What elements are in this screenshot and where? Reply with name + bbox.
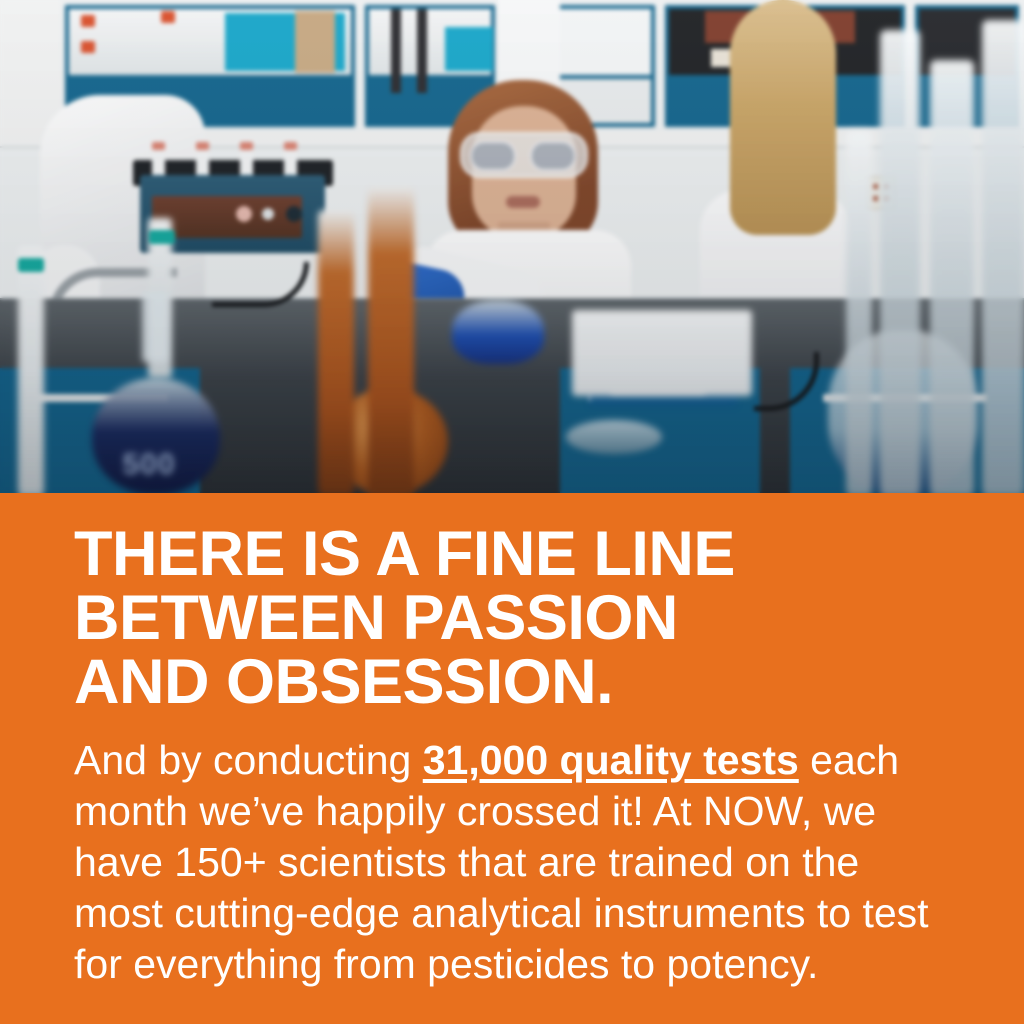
hair bbox=[730, 0, 836, 235]
clear-glass-column bbox=[846, 130, 872, 493]
analyzer-knob bbox=[262, 208, 274, 220]
body-text-before: And by conducting bbox=[74, 737, 423, 783]
clear-glass-column bbox=[982, 20, 1024, 493]
analytical-balance bbox=[572, 310, 752, 396]
blue-liquid-flask bbox=[452, 300, 544, 364]
cabinet-divider bbox=[391, 9, 401, 93]
headline: THERE IS A FINE LINE BETWEEN PASSION AND… bbox=[74, 522, 954, 714]
clear-glass-column bbox=[880, 30, 920, 493]
red-label bbox=[161, 11, 175, 23]
safety-goggles bbox=[460, 132, 588, 178]
headline-line-3: AND OBSESSION. bbox=[74, 650, 954, 714]
pipette-tip bbox=[149, 230, 175, 244]
orange-text-panel: THERE IS A FINE LINE BETWEEN PASSION AND… bbox=[0, 493, 1024, 1024]
clear-glass-column bbox=[930, 60, 974, 493]
pipette bbox=[18, 246, 44, 493]
pipette-tip bbox=[18, 258, 44, 272]
goggle-lens bbox=[530, 141, 576, 171]
headline-line-1: THERE IS A FINE LINE bbox=[74, 522, 954, 586]
body-paragraph: And by conducting 31,000 quality tests e… bbox=[74, 735, 954, 990]
flask-volume-label: 500 bbox=[106, 448, 192, 482]
red-label bbox=[81, 15, 95, 27]
petri-dish bbox=[566, 420, 662, 454]
cabinet-teal-box bbox=[445, 27, 493, 71]
red-label bbox=[81, 41, 95, 53]
amber-flask-neck bbox=[368, 186, 414, 493]
quality-tests-emphasis: 31,000 quality tests bbox=[423, 737, 799, 783]
flask-neck bbox=[142, 292, 168, 362]
headline-line-2: BETWEEN PASSION bbox=[74, 586, 954, 650]
mouth bbox=[506, 196, 540, 208]
analyzer-knob bbox=[286, 206, 302, 222]
lab-photo: 500 bbox=[0, 0, 1024, 493]
amber-flask-neck bbox=[318, 210, 354, 493]
social-graphic-canvas: 500 THERE IS A FINE LINE BETWEEN PASSION… bbox=[0, 0, 1024, 1024]
cabinet-box bbox=[295, 11, 335, 73]
goggle-lens bbox=[470, 141, 516, 171]
analyzer-knob bbox=[236, 206, 252, 222]
volumetric-flask-500ml: 500 bbox=[92, 352, 220, 492]
